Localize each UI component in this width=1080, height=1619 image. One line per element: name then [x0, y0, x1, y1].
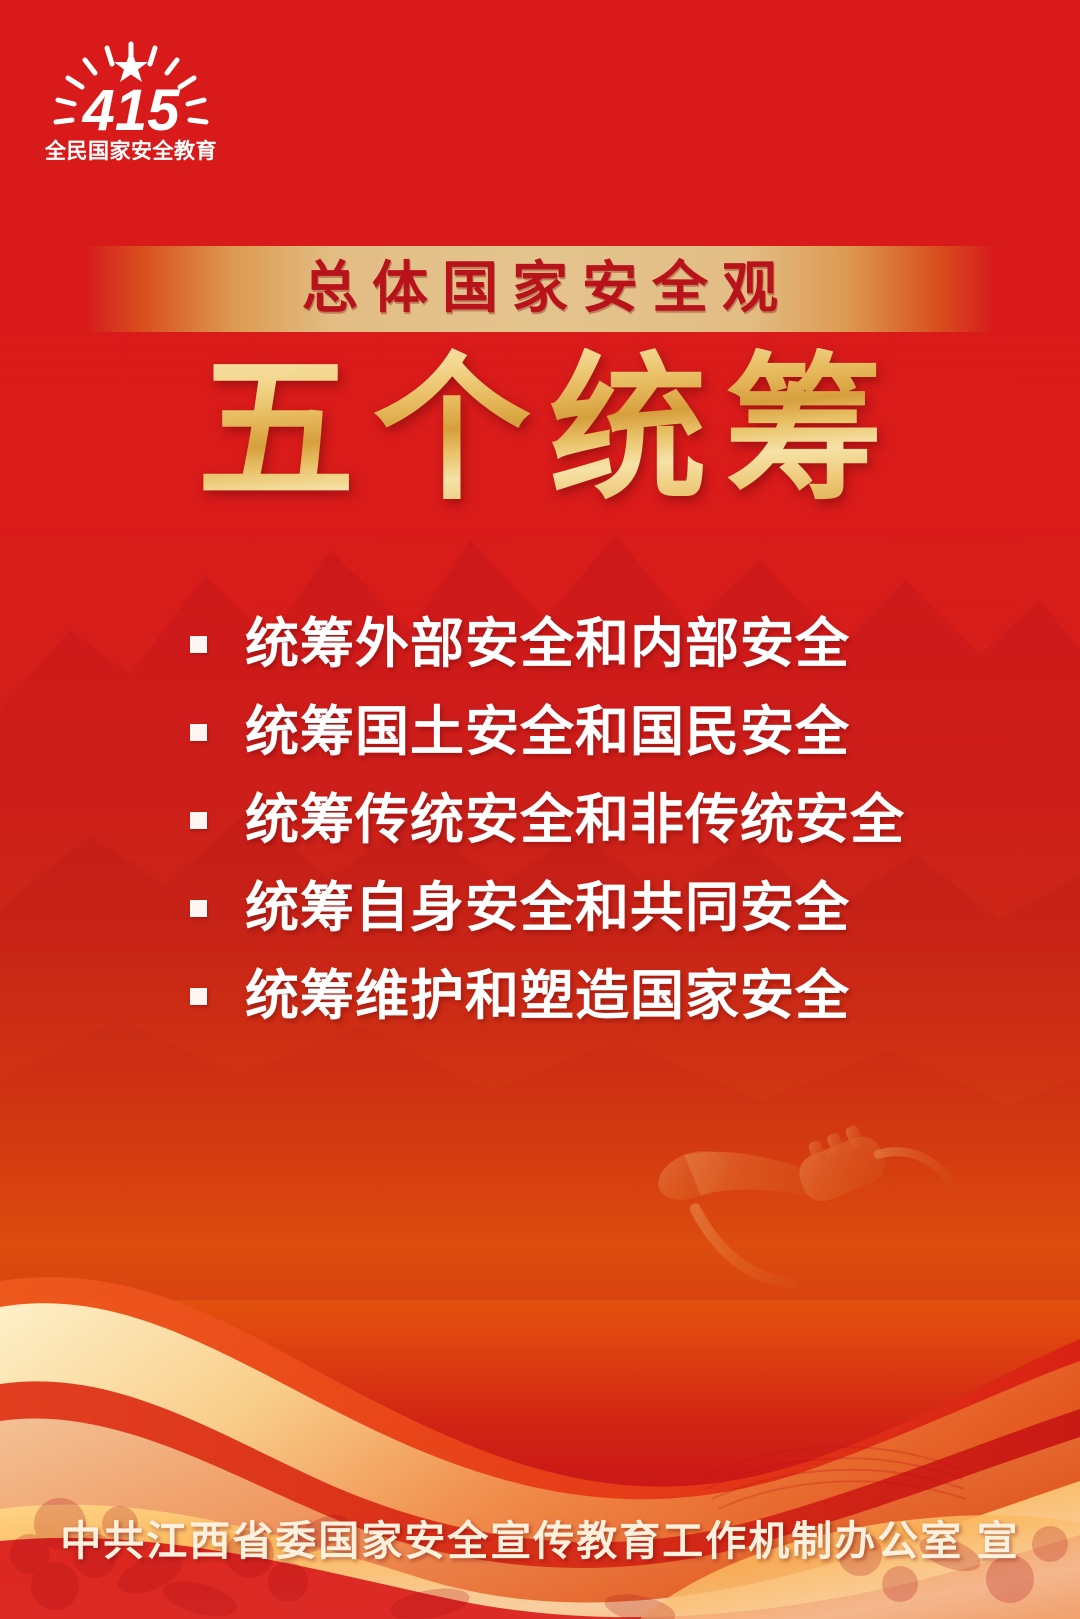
square-bullet-icon: [190, 900, 207, 917]
logo-caption: 全民国家安全教育: [44, 139, 217, 163]
headline: 五个统筹: [0, 348, 1080, 514]
list-item: 统筹国土安全和国民安全: [190, 688, 950, 776]
footer: 中共江西省委国家安全宣传教育工作机制办公室 宣: [0, 1507, 1080, 1567]
logo-415: 415 全民国家安全教育: [36, 34, 226, 164]
square-bullet-icon: [190, 988, 207, 1005]
square-bullet-icon: [190, 724, 207, 741]
list-item: 统筹传统安全和非传统安全: [190, 776, 950, 864]
list-item-label: 统筹国土安全和国民安全: [245, 705, 850, 759]
list-item-label: 统筹传统安全和非传统安全: [245, 793, 905, 847]
square-bullet-icon: [190, 636, 207, 653]
list-item: 统筹维护和塑造国家安全: [190, 952, 950, 1040]
logo-numerals: 415: [82, 78, 181, 143]
poster-root: 415 全民国家安全教育 总体国家安全观 五个统筹 统筹外部安全和内部安全 统筹…: [0, 0, 1080, 1619]
list-item-label: 统筹外部安全和内部安全: [245, 617, 850, 671]
points-list: 统筹外部安全和内部安全 统筹国土安全和国民安全 统筹传统安全和非传统安全 统筹自…: [190, 600, 950, 1040]
footer-issuer: 中共江西省委国家安全宣传教育工作机制办公室 宣: [60, 1518, 1019, 1564]
list-item: 统筹外部安全和内部安全: [190, 600, 950, 688]
headline-title: 五个统筹: [179, 348, 901, 514]
list-item-label: 统筹自身安全和共同安全: [245, 881, 850, 935]
square-bullet-icon: [190, 812, 207, 829]
banner-total-security-concept: 总体国家安全观: [90, 246, 990, 332]
list-item-label: 统筹维护和塑造国家安全: [245, 969, 850, 1023]
list-item: 统筹自身安全和共同安全: [190, 864, 950, 952]
banner-title: 总体国家安全观: [288, 261, 792, 317]
